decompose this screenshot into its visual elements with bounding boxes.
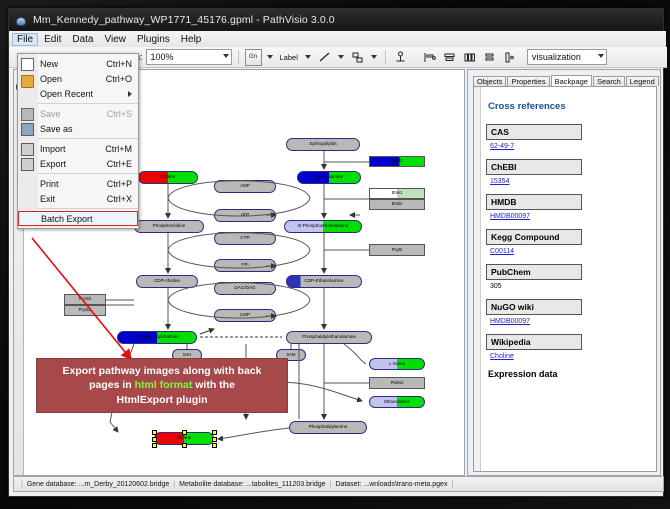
status-bar: | Gene database: ...m_Derby_20120602.bri… xyxy=(13,476,664,492)
selection-handle[interactable] xyxy=(212,430,217,435)
screenshot-root: Mm_Kennedy_pathway_WP1771_45176.gpml - P… xyxy=(0,0,670,509)
callout-line2-b: with the xyxy=(192,379,235,391)
file-menu-item-accelerator: Ctrl+P xyxy=(107,179,132,189)
pathvisio-icon xyxy=(15,14,27,26)
menu-plugins[interactable]: Plugins xyxy=(132,33,175,46)
callout-line2-a: pages in xyxy=(89,379,135,391)
title-bar: Mm_Kennedy_pathway_WP1771_45176.gpml - P… xyxy=(9,9,663,32)
side-panel: ObjectsPropertiesBackpageSearchLegend Cr… xyxy=(467,69,661,476)
line-tool-button[interactable] xyxy=(316,49,333,66)
file-menu-item-label: New xyxy=(40,59,58,69)
file-menu-item-label: Import xyxy=(40,144,66,154)
xref-value-nugo-wiki[interactable]: HMDB00097 xyxy=(490,318,650,325)
selection-handle[interactable] xyxy=(152,443,157,448)
xref-database-cas: CAS xyxy=(486,124,582,140)
datanode-icon: Gn xyxy=(249,54,257,60)
toolbar-divider xyxy=(238,50,239,64)
status-dataset: Dataset: ...wnloads\trans-meta.pgex xyxy=(335,481,447,488)
save-icon xyxy=(21,108,34,121)
datanode-dropdown-icon[interactable] xyxy=(267,55,273,59)
file-menu-item-label: Save as xyxy=(40,124,73,134)
file-menu-item-accelerator: Ctrl+E xyxy=(107,159,132,169)
xref-value-hmdb[interactable]: HMDB00097 xyxy=(490,213,650,220)
chevron-down-icon xyxy=(223,54,229,58)
file-menu-item-new[interactable]: NewCtrl+N xyxy=(18,56,138,71)
align-center-button[interactable] xyxy=(441,49,458,66)
selection-handle[interactable] xyxy=(152,437,157,442)
submenu-arrow-icon xyxy=(128,91,132,97)
xref-value-wikipedia[interactable]: Choline xyxy=(490,353,650,360)
file-menu-item-label: Print xyxy=(40,179,59,189)
file-menu-item-accelerator: Ctrl+O xyxy=(106,74,132,84)
label-dropdown-icon[interactable] xyxy=(305,55,311,59)
chevron-down-icon-2 xyxy=(598,54,604,58)
xref-value-chebi[interactable]: 15354 xyxy=(490,178,650,185)
selection-handle[interactable] xyxy=(212,437,217,442)
file-menu-item-label: Save xyxy=(40,109,61,119)
line-dropdown-icon[interactable] xyxy=(338,55,344,59)
pathvisio-window: Mm_Kennedy_pathway_WP1771_45176.gpml - P… xyxy=(8,8,664,497)
align-left-button[interactable] xyxy=(421,49,438,66)
file-menu-item-label: Exit xyxy=(40,194,55,204)
side-panel-scrollbar[interactable] xyxy=(474,87,481,471)
export-icon xyxy=(21,158,34,171)
group-button[interactable] xyxy=(501,49,518,66)
file-menu-separator xyxy=(38,208,138,209)
stack-button[interactable] xyxy=(481,49,498,66)
file-menu-separator xyxy=(38,138,138,139)
selection-handle[interactable] xyxy=(152,430,157,435)
selection-handle[interactable] xyxy=(182,430,187,435)
anchor-tool-button[interactable] xyxy=(392,49,409,66)
xref-database-kegg-compound: Kegg Compound xyxy=(486,229,582,245)
import-icon xyxy=(21,143,34,156)
file-menu-item-export[interactable]: ExportCtrl+E xyxy=(18,156,138,171)
file-menu-item-save-as[interactable]: Save as xyxy=(18,121,138,136)
new-file-icon xyxy=(21,58,34,71)
shape-tool-button[interactable] xyxy=(349,49,366,66)
menu-help[interactable]: Help xyxy=(176,33,207,46)
datanode-tool-button[interactable]: Gn xyxy=(245,49,262,66)
annotation-callout: Export pathway images along with back pa… xyxy=(36,358,288,413)
zoom-value: 100% xyxy=(151,52,174,62)
file-menu-item-label: Open xyxy=(40,74,62,84)
toolbar-divider-2 xyxy=(385,50,386,64)
tab-properties[interactable]: Properties xyxy=(507,76,549,87)
file-menu-item-label: Batch Export xyxy=(41,214,93,224)
visualization-value: visualization xyxy=(532,52,581,62)
tab-legend[interactable]: Legend xyxy=(626,76,659,87)
tab-search[interactable]: Search xyxy=(593,76,625,87)
callout-line2-highlight: html format xyxy=(135,379,193,391)
selection-handle[interactable] xyxy=(212,443,217,448)
file-menu-item-open[interactable]: OpenCtrl+O xyxy=(18,71,138,86)
menu-view[interactable]: View xyxy=(99,33,131,46)
file-menu-item-accelerator: Ctrl+S xyxy=(107,109,132,119)
file-menu-item-save: SaveCtrl+S xyxy=(18,106,138,121)
file-menu-separator xyxy=(38,103,138,104)
cross-references-list: CAS62-49-7ChEBI15354HMDBHMDB00097Kegg Co… xyxy=(486,124,650,360)
file-menu-item-exit[interactable]: ExitCtrl+X xyxy=(18,191,138,206)
save-as-icon xyxy=(21,123,34,136)
file-menu-item-label: Open Recent xyxy=(40,89,93,99)
menu-file[interactable]: File xyxy=(12,33,38,46)
xref-database-nugo-wiki: NuGO wiki xyxy=(486,299,582,315)
callout-line3: HtmlExport plugin xyxy=(117,394,208,406)
menu-edit[interactable]: Edit xyxy=(39,33,66,46)
file-menu-item-accelerator: Ctrl+M xyxy=(105,144,132,154)
xref-database-pubchem: PubChem xyxy=(486,264,582,280)
shape-dropdown-icon[interactable] xyxy=(371,55,377,59)
xref-value-pubchem: 305 xyxy=(490,283,650,290)
cross-references-heading: Cross references xyxy=(488,101,650,112)
xref-value-cas[interactable]: 62-49-7 xyxy=(490,143,650,150)
xref-database-hmdb: HMDB xyxy=(486,194,582,210)
file-menu-dropdown[interactable]: NewCtrl+NOpenCtrl+OOpen RecentSaveCtrl+S… xyxy=(17,53,139,229)
xref-database-chebi: ChEBI xyxy=(486,159,582,175)
side-panel-tabs: ObjectsPropertiesBackpageSearchLegend xyxy=(473,73,658,86)
visualization-combo[interactable]: visualization xyxy=(527,49,607,65)
file-menu-item-import[interactable]: ImportCtrl+M xyxy=(18,141,138,156)
status-metabolite-database: Metabolite database: ...tabolites_111203… xyxy=(179,481,325,488)
selection-handle[interactable] xyxy=(182,443,187,448)
file-menu-separator xyxy=(38,173,138,174)
file-menu-item-label: Export xyxy=(40,159,66,169)
xref-database-wikipedia: Wikipedia xyxy=(486,334,582,350)
xref-value-kegg-compound[interactable]: C00114 xyxy=(490,248,650,255)
file-menu-item-print[interactable]: PrintCtrl+P xyxy=(18,176,138,191)
file-menu-item-open-recent[interactable]: Open Recent xyxy=(18,86,138,101)
callout-line1: Export pathway images along with back xyxy=(63,365,262,377)
window-title: Mm_Kennedy_pathway_WP1771_45176.gpml - P… xyxy=(33,14,335,26)
status-gene-database: Gene database: ...m_Derby_20120602.bridg… xyxy=(27,481,169,488)
file-menu-item-batch-export[interactable]: Batch Export xyxy=(18,211,138,226)
zoom-combo[interactable]: 100% xyxy=(146,49,232,65)
tab-objects[interactable]: Objects xyxy=(473,76,506,87)
side-panel-body: Cross references CAS62-49-7ChEBI15354HMD… xyxy=(473,86,657,472)
label-tool-button[interactable]: Label xyxy=(278,53,300,62)
menu-bar: File Edit Data View Plugins Help xyxy=(9,31,666,48)
file-menu-item-accelerator: Ctrl+N xyxy=(106,59,132,69)
distribute-button[interactable] xyxy=(461,49,478,66)
backpage-content: Cross references CAS62-49-7ChEBI15354HMD… xyxy=(482,87,656,471)
expression-data-heading: Expression data xyxy=(488,369,650,379)
file-menu-item-accelerator: Ctrl+X xyxy=(107,194,132,204)
menu-data[interactable]: Data xyxy=(67,33,98,46)
